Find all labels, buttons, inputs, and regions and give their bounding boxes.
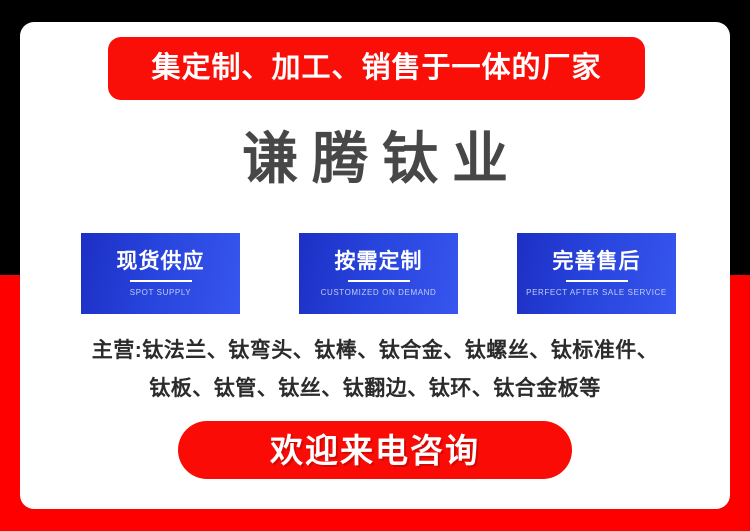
product-list-line-1: 主营:钛法兰、钛弯头、钛棒、钛合金、钛螺丝、钛标准件、 xyxy=(20,332,730,370)
feature-box-row: 现货供应 SPOT SUPPLY 按需定制 CUSTOMIZED ON DEMA… xyxy=(81,233,676,314)
call-to-action-label: 欢迎来电咨询 xyxy=(270,434,480,467)
feature-title-en: SPOT SUPPLY xyxy=(130,289,191,297)
feature-divider xyxy=(348,280,410,282)
slogan-text: 集定制、加工、销售于一体的厂家 xyxy=(151,54,601,83)
feature-title-cn: 按需定制 xyxy=(335,251,423,272)
product-list: 主营:钛法兰、钛弯头、钛棒、钛合金、钛螺丝、钛标准件、 钛板、钛管、钛丝、钛翻边… xyxy=(20,332,730,408)
feature-divider xyxy=(130,280,192,282)
product-list-line-2: 钛板、钛管、钛丝、钛翻边、钛环、钛合金板等 xyxy=(20,370,730,408)
feature-title-en: PERFECT AFTER SALE SERVICE xyxy=(526,289,667,297)
feature-box-customized-on-demand: 按需定制 CUSTOMIZED ON DEMAND xyxy=(299,233,458,314)
company-name: 谦腾钛业 xyxy=(20,127,730,191)
feature-box-after-sale-service: 完善售后 PERFECT AFTER SALE SERVICE xyxy=(517,233,676,314)
feature-title-en: CUSTOMIZED ON DEMAND xyxy=(321,289,437,297)
inner-white-panel: 集定制、加工、销售于一体的厂家 谦腾钛业 现货供应 SPOT SUPPLY 按需… xyxy=(20,22,730,509)
feature-divider xyxy=(566,280,628,282)
slogan-banner: 集定制、加工、销售于一体的厂家 xyxy=(108,37,645,100)
call-to-action-button[interactable]: 欢迎来电咨询 xyxy=(178,421,572,479)
feature-box-spot-supply: 现货供应 SPOT SUPPLY xyxy=(81,233,240,314)
feature-title-cn: 完善售后 xyxy=(553,251,641,272)
promotional-banner: 集定制、加工、销售于一体的厂家 谦腾钛业 现货供应 SPOT SUPPLY 按需… xyxy=(0,0,750,531)
feature-title-cn: 现货供应 xyxy=(117,251,205,272)
